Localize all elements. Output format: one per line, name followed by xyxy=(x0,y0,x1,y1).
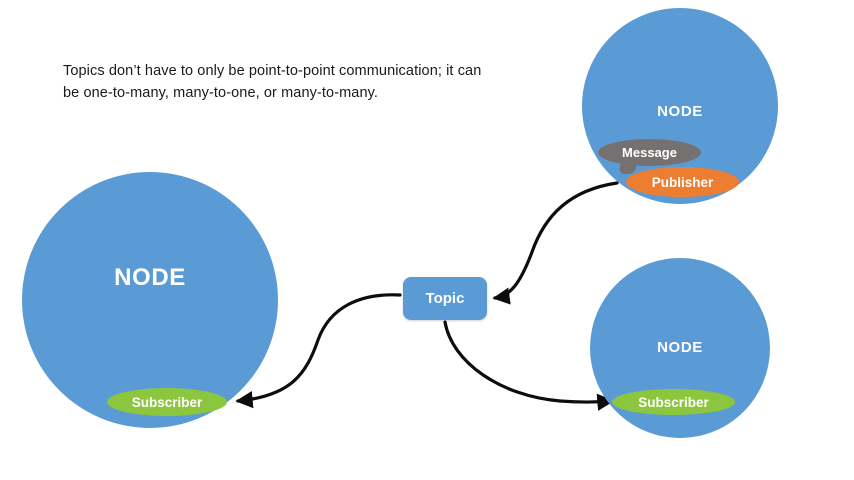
topic-box[interactable]: Topic xyxy=(403,277,487,320)
subscriber-pill-right[interactable]: Subscriber xyxy=(612,389,735,415)
node-left-label: NODE xyxy=(22,264,278,292)
publisher-pill[interactable]: Publisher xyxy=(626,167,739,197)
node-bottom-right-label: NODE xyxy=(590,339,770,356)
subscriber-pill-left[interactable]: Subscriber xyxy=(107,388,227,416)
caption-text: Topics don’t have to only be point-to-po… xyxy=(63,60,483,105)
node-top-right-label: NODE xyxy=(582,103,778,120)
message-pill[interactable]: Message xyxy=(598,139,701,166)
connector-publisher-to-topic xyxy=(495,183,617,298)
diagram-canvas: Topics don’t have to only be point-to-po… xyxy=(0,0,854,480)
connector-topic-to-right-subscriber xyxy=(445,322,612,402)
